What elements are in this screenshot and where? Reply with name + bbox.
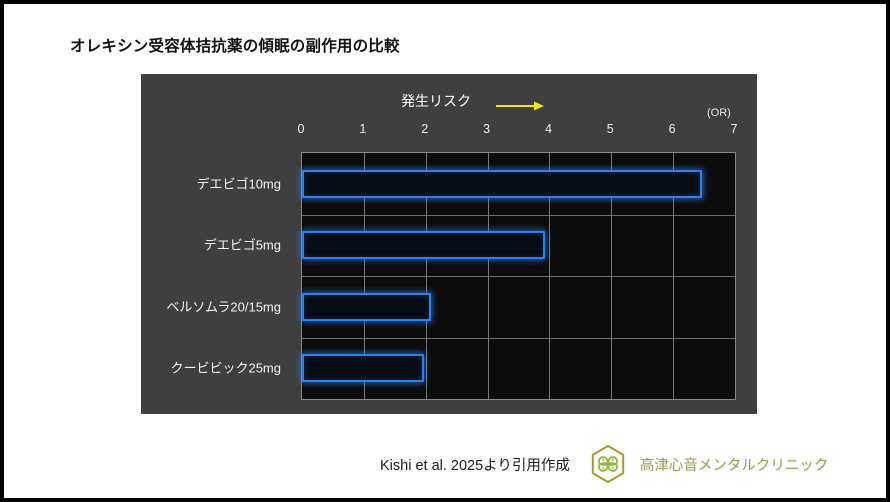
x-axis-ticks: 01234567 [141,122,757,140]
category-label: クービビック25mg [170,358,281,377]
horizontal-gridline [302,338,735,339]
x-tick-label: 1 [359,122,366,136]
x-tick-label: 7 [731,122,738,136]
page-title: オレキシン受容体拮抗薬の傾眠の副作用の比較 [70,34,400,56]
slide-canvas: オレキシン受容体拮抗薬の傾眠の副作用の比較 発生リスク (OR) 0123456… [4,4,886,498]
category-label: デエビゴ10mg [196,173,281,192]
category-label: デエビゴ5mg [204,235,281,254]
horizontal-gridline [302,276,735,277]
bar [302,170,702,198]
citation-text: Kishi et al. 2025より引用作成 [380,454,570,475]
x-tick-label: 2 [421,122,428,136]
bar [302,293,431,321]
bar [302,231,545,259]
category-label: ベルソムラ20/15mg [166,296,281,315]
horizontal-gridline [302,215,735,216]
bar [302,354,424,382]
clover-hexagon-logo-icon [588,444,628,484]
footer: Kishi et al. 2025より引用作成 高津心音メンタルクリニック [380,444,828,484]
clinic-name: 高津心音メンタルクリニック [640,454,829,475]
x-tick-label: 4 [545,122,552,136]
risk-axis-label: 発生リスク [401,91,471,111]
or-unit-label: (OR) [707,107,731,119]
plot-area [301,152,736,400]
category-labels: デエビゴ10mgデエビゴ5mgベルソムラ20/15mgクービビック25mg [141,152,293,398]
x-tick-label: 3 [483,122,490,136]
x-tick-label: 6 [669,122,676,136]
x-tick-label: 5 [607,122,614,136]
chart-panel: 発生リスク (OR) 01234567 デエビゴ10mgデエビゴ5mgベルソムラ… [141,74,757,414]
right-arrow-icon [496,101,544,111]
x-tick-label: 0 [298,122,305,136]
